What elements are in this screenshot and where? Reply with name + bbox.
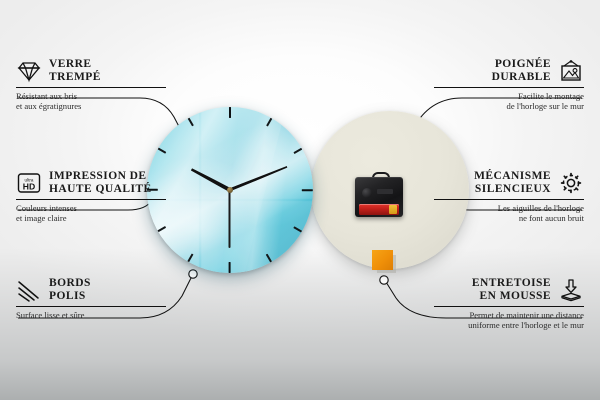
feature-header: POIGNÉE DURABLE [434, 58, 584, 83]
feature-header: MÉCANISME SILENCIEUX [434, 170, 584, 195]
clock-front-view [147, 107, 313, 273]
mechanism-dial [362, 188, 372, 198]
infographic-canvas: VERRE TREMPÉ Résistant aux bris et aux é… [0, 0, 600, 400]
ultra-hd-badge-icon: ultra HD [16, 171, 42, 195]
diagonal-lines-icon [16, 278, 42, 302]
clock-tick [230, 189, 313, 191]
feature-mecanisme-silencieux: MÉCANISME SILENCIEUX Les aiguill [434, 170, 584, 224]
clock-center-cap [227, 187, 233, 193]
feature-header: ENTRETOISE EN MOUSSE [434, 277, 584, 302]
svg-text:HD: HD [23, 181, 35, 191]
feature-title: MÉCANISME SILENCIEUX [434, 170, 551, 195]
battery [359, 204, 399, 215]
quartz-mechanism [355, 172, 403, 217]
feature-subtitle: Surface lisse et sûre [16, 310, 166, 320]
feature-title: IMPRESSION DE HAUTE QUALITÉ [49, 170, 152, 195]
feature-divider [16, 306, 166, 307]
down-arrow-foam-pad-icon [558, 278, 584, 302]
hanging-picture-frame-icon [558, 59, 584, 83]
feature-title: POIGNÉE DURABLE [434, 58, 551, 83]
feature-divider [434, 87, 584, 88]
feature-divider [16, 199, 166, 200]
feature-impression-haute-qualite: ultra HD IMPRESSION DE HAUTE QUALITÉ Cou… [16, 170, 166, 224]
diamond-icon [16, 59, 42, 83]
feature-title: ENTRETOISE EN MOUSSE [434, 277, 551, 302]
wire-node-entretoise [380, 276, 388, 284]
clock-tick [229, 107, 231, 190]
feature-subtitle: Facilite le montage de l'horloge sur le … [434, 91, 584, 112]
mechanism-slot [377, 189, 393, 194]
feature-divider [16, 87, 166, 88]
feature-header: BORDS POLIS [16, 277, 166, 302]
feature-bords-polis: BORDS POLIS Surface lisse et sûre [16, 277, 166, 320]
feature-subtitle: Couleurs intenses et image claire [16, 203, 166, 224]
feature-header: VERRE TREMPÉ [16, 58, 166, 83]
feature-title: VERRE TREMPÉ [49, 58, 101, 83]
foam-spacer-pad [372, 250, 393, 270]
feature-divider [434, 306, 584, 307]
feature-verre-trempe: VERRE TREMPÉ Résistant aux bris et aux é… [16, 58, 166, 112]
feature-poignee-durable: POIGNÉE DURABLE Facilite le montage de l… [434, 58, 584, 112]
feature-subtitle: Permet de maintenir une distance uniform… [434, 310, 584, 331]
feature-subtitle: Résistant aux bris et aux égratignures [16, 91, 166, 112]
feature-entretoise-en-mousse: ENTRETOISE EN MOUSSE Permet de maintenir… [434, 277, 584, 331]
feature-header: ultra HD IMPRESSION DE HAUTE QUALITÉ [16, 170, 166, 195]
gear-icon [558, 171, 584, 195]
feature-divider [434, 199, 584, 200]
feature-subtitle: Les aiguilles de l'horloge ne font aucun… [434, 203, 584, 224]
mechanism-body [355, 177, 403, 217]
feature-title: BORDS POLIS [49, 277, 91, 302]
